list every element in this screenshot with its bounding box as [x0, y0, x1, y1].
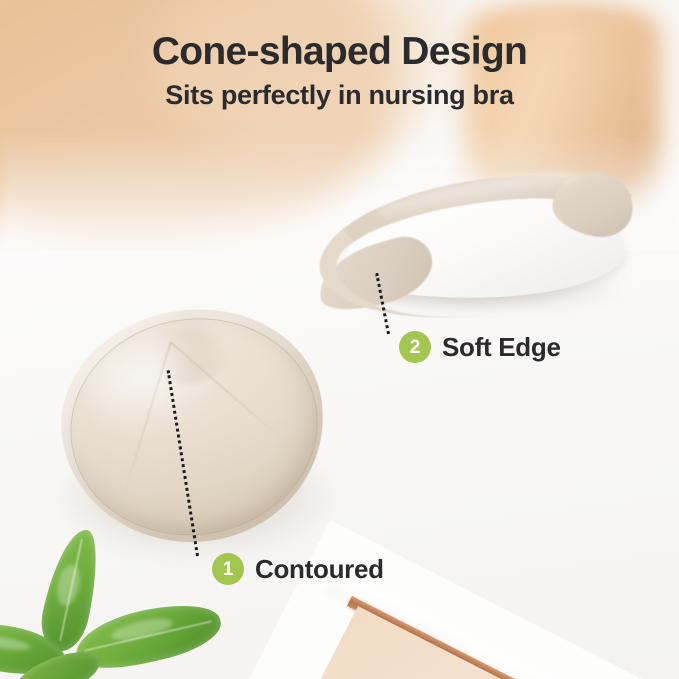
callout-contoured: 1 Contoured — [212, 553, 384, 585]
soft-edge-pad — [313, 162, 641, 321]
leaf-highlight — [110, 615, 174, 644]
product-infographic: Cone-shaped Design Sits perfectly in nur… — [0, 0, 679, 679]
page-title: Cone-shaped Design — [0, 30, 679, 74]
page-subtitle: Sits perfectly in nursing bra — [0, 80, 679, 111]
leaf-highlight — [0, 632, 31, 654]
title-block: Cone-shaped Design Sits perfectly in nur… — [0, 30, 679, 111]
leaf-highlight — [54, 563, 83, 609]
callout-badge-2: 2 — [399, 331, 431, 363]
callout-soft-edge: 2 Soft Edge — [399, 331, 561, 363]
callout-badge-1: 1 — [212, 553, 244, 585]
callout-label-soft-edge: Soft Edge — [442, 332, 561, 363]
callout-label-contoured: Contoured — [255, 554, 384, 585]
